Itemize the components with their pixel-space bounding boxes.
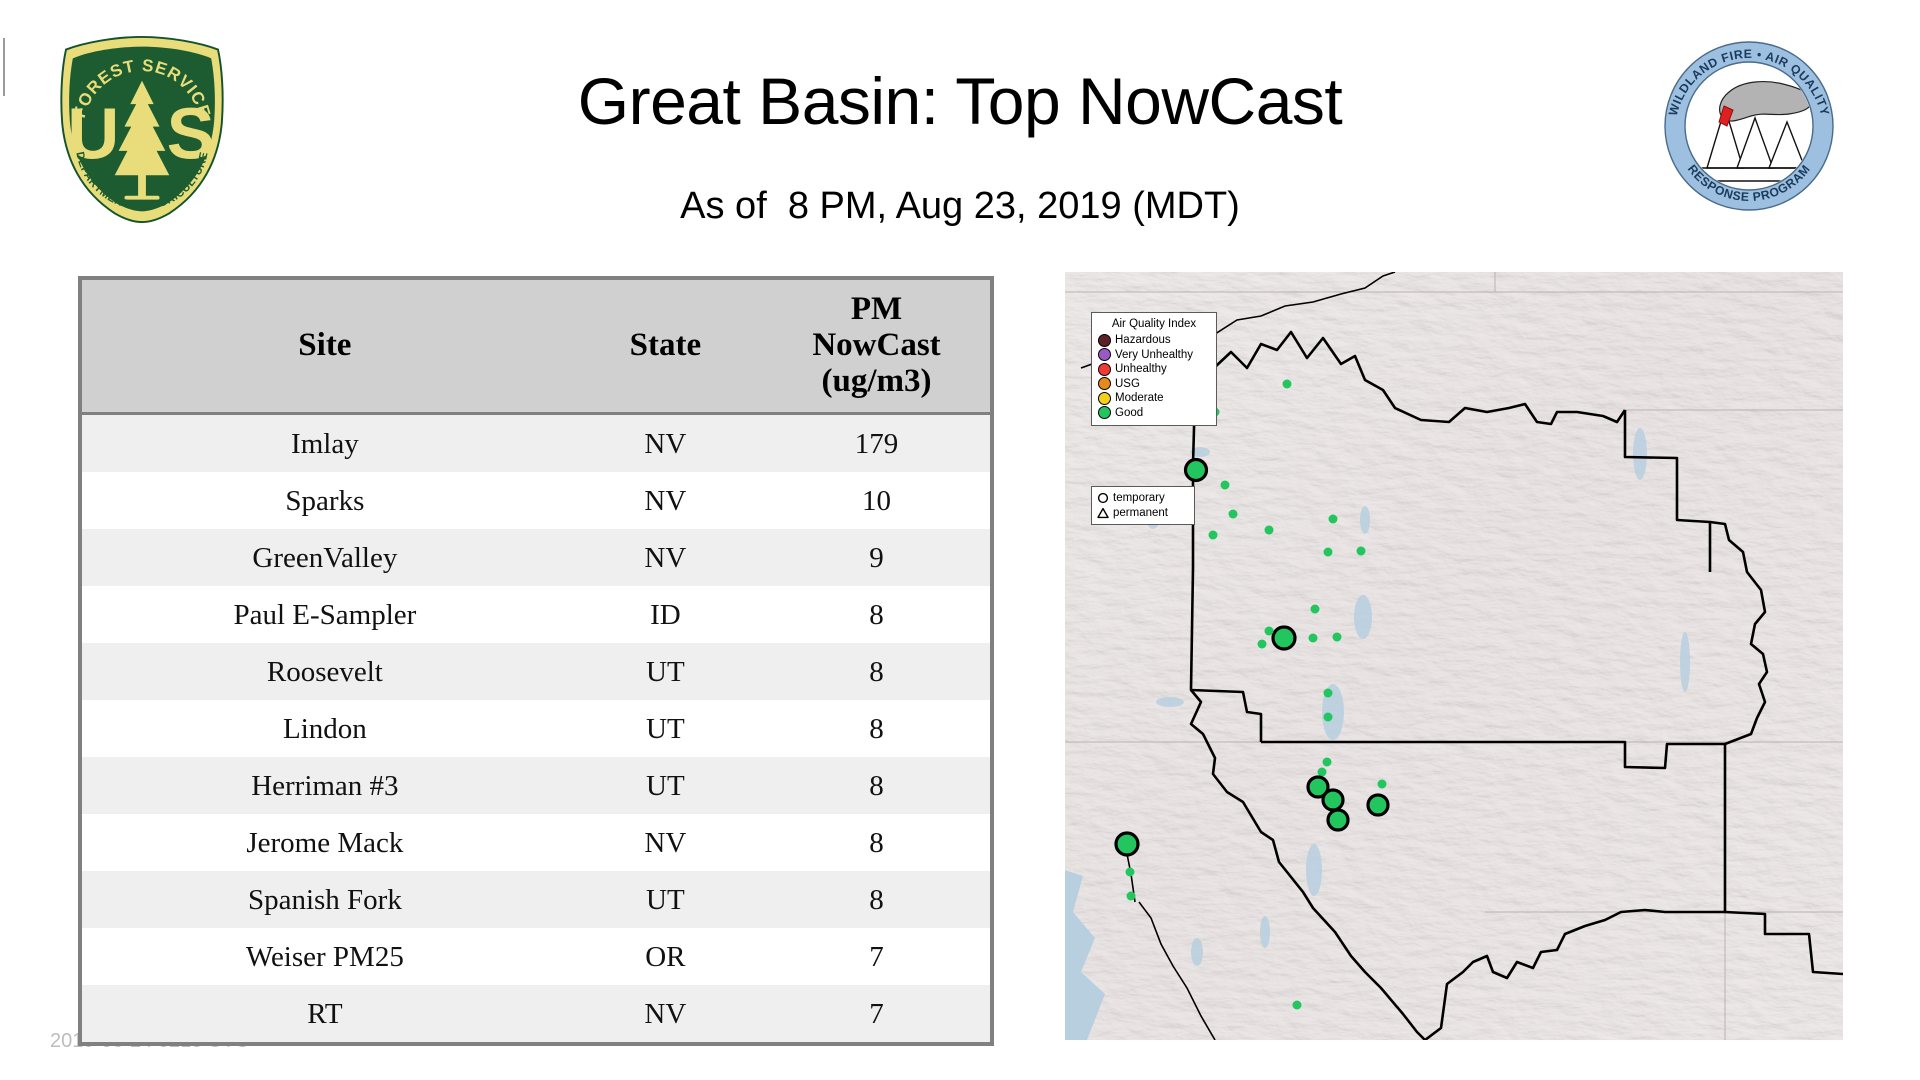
table-row[interactable]: Paul E-SamplerID8 [82, 586, 990, 643]
monitor-marker-temporary[interactable] [1324, 713, 1333, 722]
aqi-legend-label: Hazardous [1115, 334, 1171, 346]
site-cell: Spanish Fork [82, 871, 568, 928]
monitor-marker-temporary[interactable] [1318, 768, 1327, 777]
pm-cell: 8 [763, 814, 990, 871]
table-row[interactable]: Spanish ForkUT8 [82, 871, 990, 928]
monitor-type-legend: temporary permanent [1091, 486, 1195, 525]
monitor-marker-temporary[interactable] [1273, 627, 1295, 649]
site-cell: Imlay [82, 414, 568, 473]
monitor-marker-temporary[interactable] [1265, 526, 1274, 535]
legend-temporary-row: temporary [1097, 490, 1189, 505]
aqi-swatch-icon [1098, 392, 1111, 405]
site-cell: RT [82, 985, 568, 1042]
pm-cell: 9 [763, 529, 990, 586]
monitor-marker-temporary[interactable] [1333, 633, 1342, 642]
state-cell: NV [568, 985, 763, 1042]
table-row[interactable]: RTNV7 [82, 985, 990, 1042]
aqi-legend-item: Moderate [1098, 391, 1210, 406]
monitor-marker-temporary[interactable] [1368, 795, 1388, 815]
aqi-swatch-icon [1098, 334, 1111, 347]
aqi-legend-item: Unhealthy [1098, 362, 1210, 377]
table-row[interactable]: Jerome MackNV8 [82, 814, 990, 871]
aqi-legend-item: Good [1098, 406, 1210, 421]
pm-cell: 8 [763, 700, 990, 757]
monitor-marker-temporary[interactable] [1309, 634, 1318, 643]
monitor-marker-temporary[interactable] [1229, 510, 1238, 519]
column-header-site[interactable]: Site [82, 280, 568, 414]
state-cell: UT [568, 643, 763, 700]
aqi-legend-label: Moderate [1115, 392, 1164, 404]
table-header-row: Site State PM NowCast (ug/m3) [82, 280, 990, 414]
nowcast-table-container: Site State PM NowCast (ug/m3) ImlayNV179… [78, 276, 994, 1046]
legend-temporary-label: temporary [1113, 492, 1165, 504]
monitor-marker-temporary[interactable] [1357, 547, 1366, 556]
state-cell: OR [568, 928, 763, 985]
page-subtitle: As of 8 PM, Aug 23, 2019 (MDT) [0, 183, 1920, 229]
monitor-marker-temporary[interactable] [1293, 1001, 1302, 1010]
legend-permanent-label: permanent [1113, 507, 1168, 519]
table-row[interactable]: ImlayNV179 [82, 414, 990, 473]
table-body: ImlayNV179SparksNV10GreenValleyNV9Paul E… [82, 414, 990, 1043]
pm-cell: 8 [763, 757, 990, 814]
site-cell: Sparks [82, 472, 568, 529]
aqi-legend-label: Good [1115, 407, 1143, 419]
aqi-swatch-icon [1098, 348, 1111, 361]
monitor-marker-temporary[interactable] [1258, 640, 1267, 649]
monitor-marker-temporary[interactable] [1265, 627, 1274, 636]
table-row[interactable]: Weiser PM25OR7 [82, 928, 990, 985]
aqi-legend-title: Air Quality Index [1098, 318, 1210, 330]
monitor-marker-temporary[interactable] [1324, 689, 1333, 698]
aqi-legend-label: USG [1115, 378, 1140, 390]
table-row[interactable]: Herriman #3UT8 [82, 757, 990, 814]
table-row[interactable]: RooseveltUT8 [82, 643, 990, 700]
state-cell: ID [568, 586, 763, 643]
pm-cell: 10 [763, 472, 990, 529]
site-cell: Herriman #3 [82, 757, 568, 814]
monitor-marker-temporary[interactable] [1323, 790, 1343, 810]
table-row[interactable]: GreenValleyNV9 [82, 529, 990, 586]
aqi-legend-item: Hazardous [1098, 333, 1210, 348]
monitor-marker-temporary[interactable] [1186, 460, 1207, 481]
state-cell: NV [568, 472, 763, 529]
site-cell: Lindon [82, 700, 568, 757]
monitor-marker-temporary[interactable] [1283, 380, 1292, 389]
aqi-legend-label: Very Unhealthy [1115, 349, 1193, 361]
aqi-swatch-icon [1098, 377, 1111, 390]
pm-cell: 8 [763, 586, 990, 643]
aqi-legend-item: USG [1098, 377, 1210, 392]
state-cell: NV [568, 414, 763, 473]
site-cell: Jerome Mack [82, 814, 568, 871]
site-cell: Weiser PM25 [82, 928, 568, 985]
pm-cell: 8 [763, 643, 990, 700]
aqi-legend-rows: HazardousVery UnhealthyUnhealthyUSGModer… [1098, 333, 1210, 420]
pm-header-line-3: (ug/m3) [767, 363, 986, 399]
pm-cell: 7 [763, 985, 990, 1042]
aqi-swatch-icon [1098, 406, 1111, 419]
triangle-icon [1097, 507, 1109, 519]
monitor-marker-temporary[interactable] [1323, 758, 1332, 767]
monitor-marker-temporary[interactable] [1378, 780, 1387, 789]
pm-header-line-1: PM [767, 291, 986, 327]
aqi-swatch-icon [1098, 363, 1111, 376]
monitor-marker-temporary[interactable] [1221, 481, 1230, 490]
monitor-marker-temporary[interactable] [1324, 548, 1333, 557]
state-cell: NV [568, 529, 763, 586]
pm-cell: 7 [763, 928, 990, 985]
aqi-legend-label: Unhealthy [1115, 363, 1167, 375]
pm-header-line-2: NowCast [767, 327, 986, 363]
monitor-marker-temporary[interactable] [1329, 515, 1338, 524]
monitor-marker-temporary[interactable] [1116, 833, 1138, 855]
pm-cell: 8 [763, 871, 990, 928]
nowcast-table: Site State PM NowCast (ug/m3) ImlayNV179… [82, 280, 990, 1042]
site-cell: Roosevelt [82, 643, 568, 700]
state-cell: UT [568, 757, 763, 814]
site-cell: Paul E-Sampler [82, 586, 568, 643]
column-header-pm-nowcast[interactable]: PM NowCast (ug/m3) [763, 280, 990, 414]
aqi-legend: Air Quality Index HazardousVery Unhealth… [1091, 312, 1217, 426]
monitor-marker-temporary[interactable] [1127, 892, 1136, 901]
monitor-marker-temporary[interactable] [1209, 531, 1218, 540]
monitor-marker-temporary[interactable] [1126, 868, 1135, 877]
monitor-marker-temporary[interactable] [1328, 810, 1348, 830]
circle-icon [1097, 492, 1109, 504]
air-quality-map[interactable]: Air Quality Index HazardousVery Unhealth… [1065, 272, 1843, 1040]
slide: FOREST SERVICE U S DEPARTMENT OF AGRICUL… [0, 0, 1920, 1080]
table-row[interactable]: LindonUT8 [82, 700, 990, 757]
state-cell: UT [568, 700, 763, 757]
table-row[interactable]: SparksNV10 [82, 472, 990, 529]
pm-cell: 179 [763, 414, 990, 473]
legend-permanent-row: permanent [1097, 505, 1189, 520]
state-cell: NV [568, 814, 763, 871]
state-cell: UT [568, 871, 763, 928]
monitor-marker-temporary[interactable] [1311, 605, 1320, 614]
site-cell: GreenValley [82, 529, 568, 586]
page-title: Great Basin: Top NowCast [0, 62, 1920, 140]
column-header-state[interactable]: State [568, 280, 763, 414]
aqi-legend-item: Very Unhealthy [1098, 348, 1210, 363]
